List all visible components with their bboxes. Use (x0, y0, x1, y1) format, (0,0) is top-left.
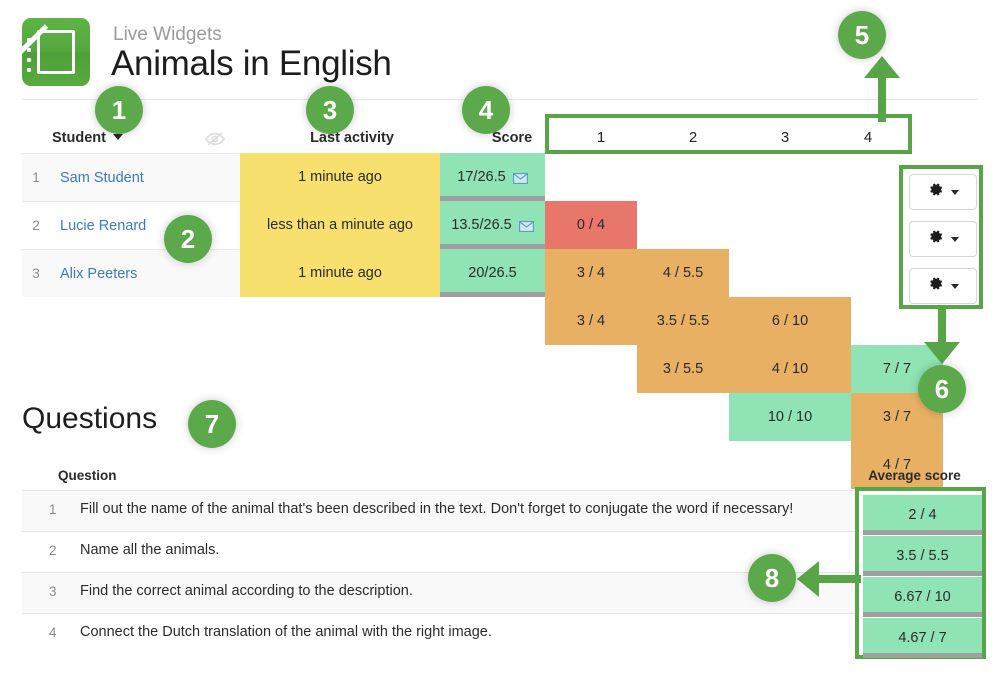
chevron-down-icon (951, 190, 959, 195)
average-score-cell[interactable]: 3.5 / 5.5 (863, 536, 982, 576)
question-index: 3 (49, 584, 57, 599)
callout-badge-2: 2 (164, 215, 212, 263)
callout-arrow-8 (797, 553, 859, 605)
gear-icon (927, 181, 944, 203)
score-value: 13.5/26.5 (451, 217, 511, 233)
column-header-q2[interactable]: 2 (647, 129, 739, 146)
average-score-cell[interactable]: 6.67 / 10 (863, 577, 982, 617)
question-score-cell[interactable]: 3.5 / 5.5 (637, 297, 729, 345)
envelope-icon[interactable] (513, 172, 528, 183)
question-score-value: 6 / 10 (772, 313, 808, 329)
list-item[interactable]: 1 Fill out the name of the animal that's… (22, 490, 978, 531)
question-score-cell[interactable]: 4 / 10 (729, 345, 851, 393)
student-name-link[interactable]: Alix Peeters (50, 249, 240, 297)
students-table: Student Last activity Score 1 2 3 4 1 Sa… (22, 100, 978, 297)
column-header-average-score: Average score (852, 468, 977, 483)
callout-badge-7: 7 (188, 400, 236, 448)
average-score-value: 3.5 / 5.5 (896, 548, 948, 564)
app-subtitle: Live Widgets (113, 24, 222, 46)
envelope-icon[interactable] (519, 220, 534, 231)
questions-heading: Questions (22, 402, 157, 436)
column-header-last-activity[interactable]: Last activity (272, 130, 432, 146)
question-score-value: 3.5 / 5.5 (657, 313, 709, 329)
score-cell[interactable]: 13.5/26.5 (440, 201, 545, 249)
questions-table-header: Question Average score (22, 462, 978, 490)
gear-icon (927, 275, 944, 297)
callout-badge-6: 6 (918, 365, 966, 413)
question-score-value: 7 / 7 (883, 361, 911, 377)
score-value: 20/26.5 (468, 265, 516, 281)
column-header-q4[interactable]: 4 (822, 129, 914, 146)
last-activity-cell: 1 minute ago (240, 153, 440, 201)
question-score-value: 3 / 4 (577, 313, 605, 329)
score-cell[interactable]: 17/26.5 (440, 153, 545, 201)
question-score-value: 3 / 5.5 (663, 361, 703, 377)
row-actions-box (899, 165, 983, 309)
table-row[interactable]: 1 Sam Student 1 minute ago 17/26.5 0 / 4… (22, 153, 978, 201)
average-score-value: 2 / 4 (908, 507, 936, 523)
page-title: Animals in English (111, 44, 392, 84)
question-index: 2 (49, 543, 57, 558)
question-score-value: 3 / 7 (883, 409, 911, 425)
question-text: Name all the animals. (80, 542, 219, 558)
question-text: Connect the Dutch translation of the ani… (80, 624, 492, 640)
row-index: 1 (22, 153, 50, 201)
last-activity-cell: 1 minute ago (240, 249, 440, 297)
callout-badge-5: 5 (838, 11, 886, 59)
average-score-value: 4.67 / 7 (898, 630, 946, 646)
score-cell[interactable]: 20/26.5 (440, 249, 545, 297)
column-header-q3[interactable]: 3 (739, 129, 831, 146)
assignment-pencil-icon (22, 18, 90, 86)
score-value: 17/26.5 (457, 169, 505, 185)
eye-slash-icon[interactable] (204, 131, 226, 147)
chevron-down-icon (951, 237, 959, 242)
list-item[interactable]: 4 Connect the Dutch translation of the a… (22, 613, 978, 654)
row-index: 3 (22, 249, 50, 297)
question-score-cell[interactable]: 3 / 5.5 (637, 345, 729, 393)
question-score-cell[interactable]: 10 / 10 (729, 393, 851, 441)
row-index: 2 (22, 201, 50, 249)
average-score-box: 2 / 4 3.5 / 5.5 6.67 / 10 4.67 / 7 (855, 487, 986, 659)
chevron-down-icon[interactable] (113, 134, 123, 140)
student-name-link[interactable]: Sam Student (50, 153, 240, 201)
question-text: Find the correct animal according to the… (80, 583, 413, 599)
question-score-value: 10 / 10 (768, 409, 812, 425)
question-index: 1 (49, 502, 57, 517)
average-score-cell[interactable]: 2 / 4 (863, 495, 982, 535)
column-header-student-label: Student (52, 130, 106, 146)
callout-arrow-5 (855, 52, 909, 122)
question-score-value: 4 / 10 (772, 361, 808, 377)
callout-arrow-6 (915, 309, 969, 371)
average-score-cell[interactable]: 4.67 / 7 (863, 618, 982, 658)
callout-badge-3: 3 (306, 86, 354, 134)
column-header-q1[interactable]: 1 (555, 129, 647, 146)
average-score-value: 6.67 / 10 (894, 589, 950, 605)
gear-icon (927, 228, 944, 250)
question-index: 4 (49, 625, 57, 640)
callout-badge-4: 4 (462, 86, 510, 134)
column-header-question: Question (58, 468, 117, 483)
last-activity-cell: less than a minute ago (240, 201, 440, 249)
question-text: Fill out the name of the animal that's b… (80, 501, 793, 517)
question-score-cell[interactable]: 3 / 4 (545, 297, 637, 345)
row-actions-button[interactable] (909, 174, 977, 210)
callout-badge-1: 1 (95, 86, 143, 134)
question-score-cell[interactable]: 6 / 10 (729, 297, 851, 345)
row-actions-button[interactable] (909, 268, 977, 304)
callout-badge-8: 8 (748, 554, 796, 602)
chevron-down-icon (951, 284, 959, 289)
row-actions-button[interactable] (909, 221, 977, 257)
table-row[interactable]: 3 Alix Peeters 1 minute ago 20/26.5 3 / … (22, 249, 978, 297)
page-root: Live Widgets Animals in English Student … (0, 0, 1000, 679)
